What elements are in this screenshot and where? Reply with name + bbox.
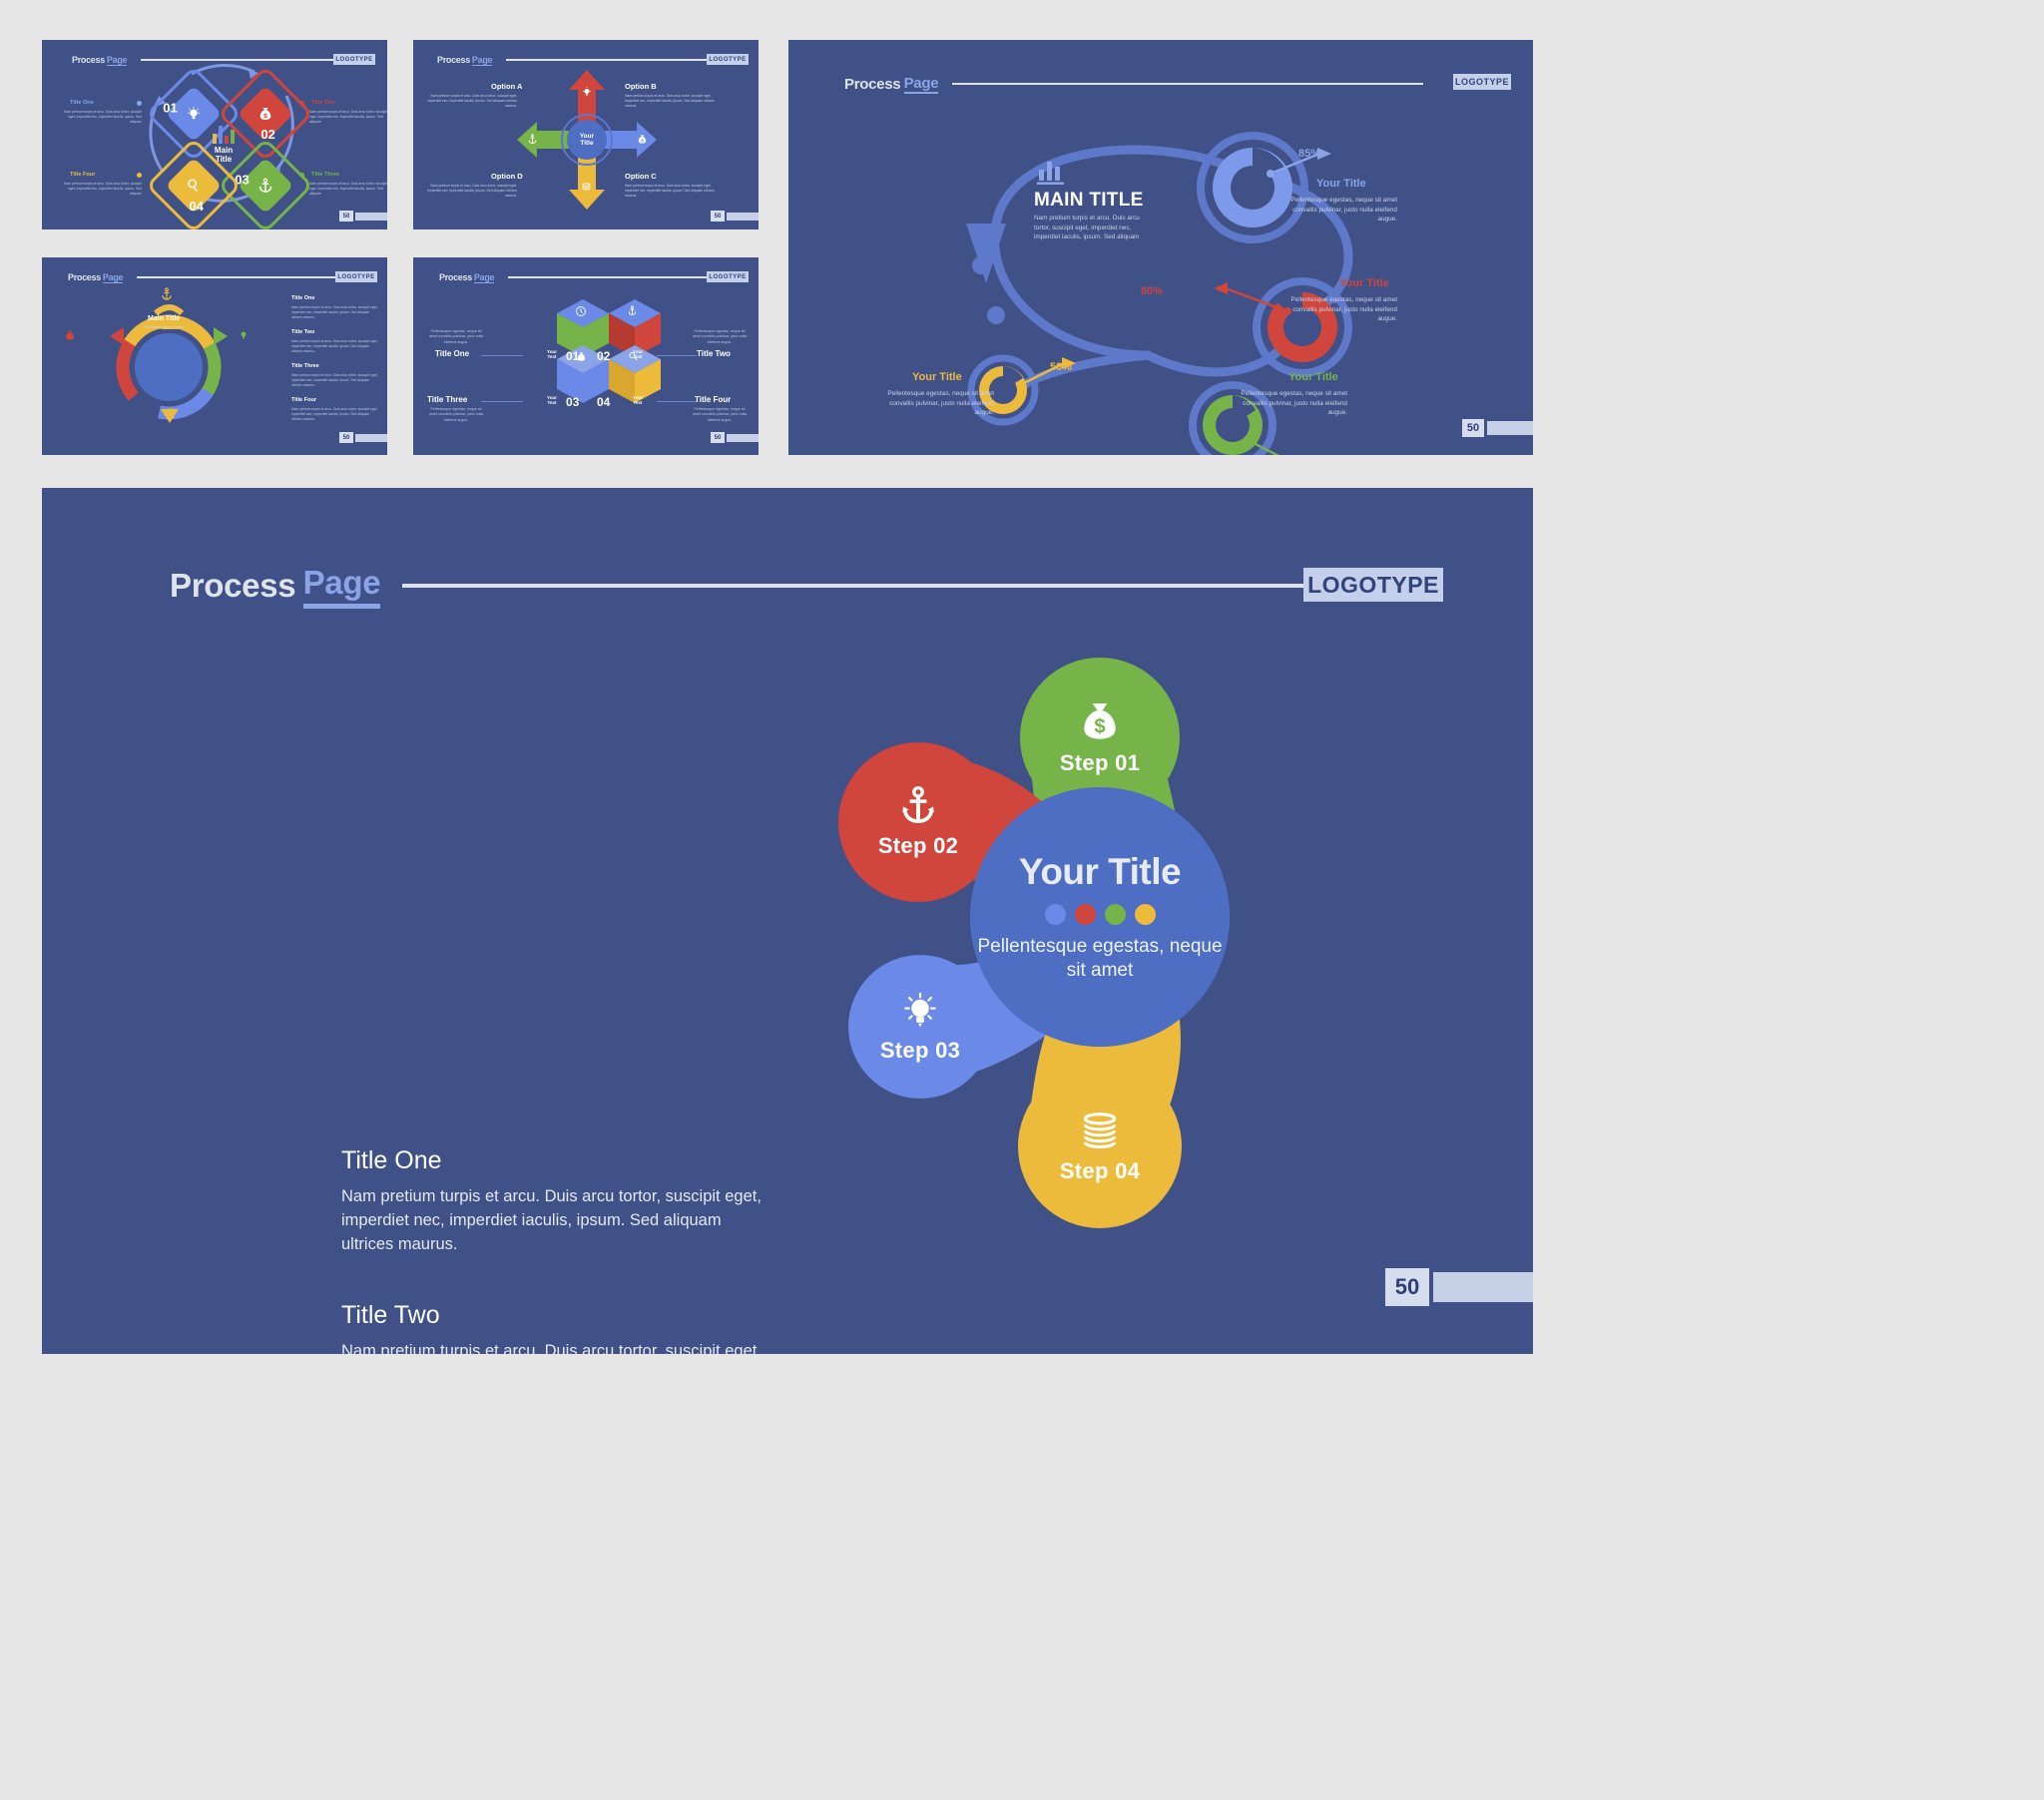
cube-your-text-02: YourText <box>625 349 651 360</box>
label-title-four: Title Four <box>70 172 95 178</box>
anchor-icon <box>527 134 538 145</box>
item-title: Title Two <box>341 1301 770 1330</box>
page-number-badge: 50 <box>1462 419 1533 437</box>
item-title-four: Title Four <box>291 397 316 403</box>
header-title-process: Process <box>844 76 900 93</box>
center-node[interactable]: Your Title Pellentesque egestas, neque s… <box>970 787 1230 1047</box>
coin-stack-icon <box>164 407 177 420</box>
bullet-dot <box>299 101 304 106</box>
header-rule <box>141 59 351 61</box>
svg-text:$: $ <box>263 113 267 120</box>
bullet-dot <box>299 173 304 178</box>
header-title-page: Page <box>472 55 492 66</box>
cube-number-01: 01 <box>566 349 579 363</box>
node-body-4: Pellentesque egestas, neque sit amet con… <box>884 389 994 418</box>
step-label: Step 04 <box>1060 1158 1140 1184</box>
money-bag-icon <box>64 329 76 341</box>
page-number: 50 <box>339 432 353 443</box>
svg-text:$: $ <box>1094 716 1105 738</box>
header-rule <box>508 276 723 278</box>
header-title-page: Page <box>474 272 494 283</box>
logotype-badge: LOGOTYPE <box>1453 74 1511 90</box>
thumb4-center-body: Pellentesque egestas neque <box>134 325 194 329</box>
logotype-badge: LOGOTYPE <box>1303 568 1443 602</box>
clock-icon <box>575 305 587 317</box>
option-a-label: Option A <box>491 82 522 91</box>
node-title-1: Your Title <box>1316 178 1366 190</box>
node-title-3: Your Title <box>1288 371 1338 383</box>
header-title-process: Process <box>437 55 470 65</box>
lightbulb-icon <box>899 990 941 1032</box>
lightbulb-icon <box>581 86 593 98</box>
item-body: Nam pretium turpis et arcu. Duis arcu to… <box>341 1185 770 1257</box>
cube-number-02: 02 <box>597 349 610 363</box>
anchor-icon <box>897 785 939 827</box>
center-title-line2: Title <box>216 155 232 164</box>
label-body-four: Pellentesque egestas, neque sit amet con… <box>691 407 749 423</box>
label-body-three: Pellentesque egestas, neque sit amet con… <box>427 407 485 423</box>
thumb3-main-title: MAIN TITLE <box>1034 190 1144 212</box>
header-title-page: Page <box>904 75 939 94</box>
dot-green <box>1105 904 1126 925</box>
page-bar <box>727 434 759 442</box>
label-body-three: Nam pretium turpis et arcu. Duis arcu to… <box>309 182 387 197</box>
page-bar <box>727 213 759 221</box>
coin-stack-icon <box>581 182 592 193</box>
dot-blue <box>1045 904 1066 925</box>
header-rule <box>402 584 1407 588</box>
cube-your-text-03: YourText <box>539 395 565 406</box>
item-body-one: Nam pretium turpis et arcu. Duis arcu to… <box>291 305 379 320</box>
label-title-four: Title Four <box>695 395 731 404</box>
bar-chart-icon <box>1037 158 1067 186</box>
cube-your-text-01: YourText <box>539 349 565 360</box>
bar-chart-icon <box>210 122 238 144</box>
logotype-badge: LOGOTYPE <box>333 54 375 65</box>
dot-yellow <box>1135 904 1156 925</box>
item-body-three: Nam pretium turpis et arcu. Duis arcu to… <box>291 373 379 388</box>
item-title-one: Title One <box>291 295 314 301</box>
leader-line <box>481 355 523 356</box>
node-number: 02 <box>260 127 274 142</box>
percent-50: 50% <box>1050 361 1072 373</box>
thumb2-center-title: YourTitle <box>567 120 607 160</box>
label-body-four: Nam pretium turpis et arcu. Duis arcu to… <box>64 182 142 197</box>
item-title: Title One <box>341 1146 770 1175</box>
isometric-cubes <box>525 297 655 427</box>
list-item[interactable]: Title Two Nam pretium turpis et arcu. Du… <box>341 1301 770 1354</box>
header-rule <box>952 83 1423 85</box>
label-body-two: Pellentesque egestas, neque sit amet con… <box>691 329 749 345</box>
center-body: Pellentesque egestas, neque sit amet <box>970 935 1230 984</box>
money-bag-icon: $ <box>637 134 648 145</box>
thumbnail-slide-4[interactable]: Process Page LOGOTYPE Main Title Pellent… <box>42 257 387 455</box>
coin-stack-icon <box>1078 1109 1122 1152</box>
thumb4-center-title: Main Title <box>148 315 180 322</box>
node-title-4: Your Title <box>912 371 962 383</box>
page-number-badge: 50 <box>339 432 387 443</box>
percent-85: 85% <box>1298 148 1320 160</box>
page-number: 50 <box>711 432 725 443</box>
bullet-dot <box>137 101 142 106</box>
label-title-three: Title Three <box>427 395 467 404</box>
page-number-badge: 50 <box>339 211 387 222</box>
option-c-body: Nam pretium turpis et arcu. Duis arcu to… <box>625 184 715 199</box>
label-body-one: Pellentesque egestas, neque sit amet con… <box>427 329 485 345</box>
step-label: Step 03 <box>880 1038 960 1064</box>
header-title-process: Process <box>439 272 472 282</box>
lightbulb-icon <box>238 329 250 341</box>
cube-your-text-04: YourText <box>625 395 651 406</box>
page-bar <box>1487 421 1533 435</box>
page-number-badge: 50 <box>1385 1268 1533 1306</box>
node-title-2: Your Title <box>1339 277 1389 289</box>
logotype-badge: LOGOTYPE <box>335 271 377 282</box>
option-c-label: Option C <box>625 172 657 181</box>
page-bar <box>355 434 387 442</box>
item-body-two: Nam pretium turpis et arcu. Duis arcu to… <box>291 339 379 354</box>
step-label: Step 02 <box>878 833 958 859</box>
thumbnail-slide-1[interactable]: Process Page LOGOTYPE 01 $ 0 <box>42 40 387 229</box>
dot-red <box>1075 904 1096 925</box>
item-title-two: Title Two <box>291 329 314 335</box>
slide-header: Process Page <box>437 54 729 66</box>
option-b-label: Option B <box>625 82 657 91</box>
list-item[interactable]: Title One Nam pretium turpis et arcu. Du… <box>341 1146 770 1257</box>
header-title-page: Page <box>303 564 381 609</box>
header-title-process: Process <box>170 567 295 605</box>
leader-line <box>657 355 697 356</box>
thumb3-main-body: Nam pretium turpis et arcu. Duis arcu to… <box>1034 214 1154 242</box>
thumbnail-slide-5[interactable]: Process Page LOGOTYPE 01 02 03 04 YourTe… <box>413 257 759 455</box>
center-line2: Title <box>580 140 593 147</box>
step-04[interactable]: Step 04 <box>1018 1065 1182 1228</box>
slide-header: Process Page <box>844 74 1423 94</box>
node-number: 04 <box>189 199 203 214</box>
page-number: 50 <box>1385 1268 1429 1306</box>
cube-number-03: 03 <box>566 395 579 409</box>
page-bar <box>355 213 387 221</box>
anchor-icon <box>160 287 174 301</box>
label-title-two: Title Two <box>697 349 731 358</box>
node-body-2: Pellentesque egestas, neque sit amet con… <box>1287 295 1397 324</box>
header-title-page: Page <box>103 272 123 283</box>
node-number: 01 <box>163 101 177 116</box>
node-body-3: Pellentesque egestas, neque sit amet con… <box>1238 389 1347 418</box>
label-title-one: Title One <box>435 349 469 358</box>
logotype-badge: LOGOTYPE <box>707 271 749 282</box>
option-d-body: Nam pretium turpis et arcu. Duis arcu to… <box>427 184 517 199</box>
page-number: 50 <box>711 211 725 222</box>
page-number-badge: 50 <box>711 211 759 222</box>
center-line1: Your <box>580 133 594 140</box>
main-slide-header: Process Page <box>170 566 1407 606</box>
page-number: 50 <box>339 211 353 222</box>
label-body-two: Nam pretium turpis et arcu. Duis arcu to… <box>309 110 387 125</box>
money-bag-icon: $ <box>1077 698 1123 744</box>
header-title-process: Process <box>68 272 101 282</box>
node-body-1: Pellentesque egestas, neque sit amet con… <box>1287 196 1397 225</box>
thumbnail-slide-3[interactable]: Process Page LOGOTYPE <box>788 40 1533 455</box>
process-path <box>848 106 1467 435</box>
header-title-process: Process <box>72 55 105 65</box>
item-body-four: Nam pretium turpis et arcu. Duis arcu to… <box>291 407 379 422</box>
thumb1-center-title: Main Title <box>197 146 251 164</box>
label-title-one: Title One <box>70 100 94 106</box>
color-dots <box>1045 904 1156 925</box>
page-number: 50 <box>1462 419 1484 437</box>
option-d-label: Option D <box>491 172 523 181</box>
center-title: Your Title <box>1019 851 1181 893</box>
header-rule <box>506 59 729 61</box>
header-title-page: Page <box>107 55 127 66</box>
label-title-two: Title Two <box>311 100 335 106</box>
step-label: Step 01 <box>1060 750 1140 776</box>
step-02[interactable]: Step 02 <box>838 742 998 902</box>
center-title-line1: Main <box>215 146 233 155</box>
label-title-three: Title Three <box>311 172 339 178</box>
page-number-badge: 50 <box>711 432 759 443</box>
content-list: Title One Nam pretium turpis et arcu. Du… <box>341 1146 770 1354</box>
percent-80: 80% <box>1141 285 1163 297</box>
cube-number-04: 04 <box>597 395 610 409</box>
page-bar <box>1433 1272 1533 1302</box>
slide-deck-canvas: Process Page LOGOTYPE 01 $ 0 <box>0 0 2044 1800</box>
item-body: Nam pretium turpis et arcu. Duis arcu to… <box>341 1340 770 1354</box>
header-rule <box>137 276 351 278</box>
main-slide[interactable]: Process Page LOGOTYPE Title One Nam pret… <box>42 488 1533 1354</box>
slide-header: Process Page <box>68 271 351 283</box>
label-body-one: Nam pretium turpis et arcu. Duis arcu to… <box>64 110 142 125</box>
logotype-badge: LOGOTYPE <box>707 54 749 65</box>
leader-line <box>657 401 697 402</box>
option-b-body: Nam pretium turpis et arcu. Duis arcu to… <box>625 94 715 109</box>
circular-process-diagram <box>64 287 273 447</box>
anchor-icon <box>627 305 638 316</box>
process-blob-diagram: $ Step 01 Step 02 Step 03 S <box>800 608 1499 1306</box>
slide-header: Process Page <box>439 271 723 283</box>
thumbnail-slide-2[interactable]: Process Page LOGOTYPE YourTitle $ <box>413 40 759 229</box>
option-a-body: Nam pretium turpis et arcu. Duis arcu to… <box>427 94 517 109</box>
bullet-dot <box>137 173 142 178</box>
item-title-three: Title Three <box>291 363 319 369</box>
leader-line <box>481 401 523 402</box>
